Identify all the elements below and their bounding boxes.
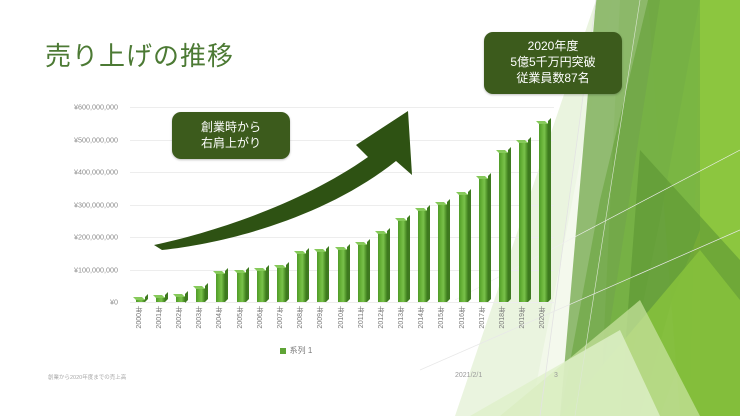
x-axis-tick-label: 2009年 <box>316 306 326 329</box>
x-axis-tick-label: 2001年 <box>155 306 165 329</box>
chart-bar <box>338 249 347 302</box>
y-axis-tick-label: ¥100,000,000 <box>8 265 118 274</box>
chart-bar <box>499 152 508 302</box>
footer-note: 創業から2020年度までの売上高 <box>48 373 126 381</box>
x-axis-tick-label: 2013年 <box>397 306 407 329</box>
chart-bar <box>277 267 286 302</box>
x-axis-tick-label: 2020年 <box>538 306 548 329</box>
legend-label: 系列 1 <box>290 345 313 356</box>
chart-bar <box>317 251 326 302</box>
callout-right-line-1: 2020年度 <box>488 38 618 54</box>
y-axis-tick-label: ¥500,000,000 <box>8 135 118 144</box>
x-axis-tick-label: 2017年 <box>478 306 488 329</box>
footer-page-number: 3 <box>554 372 558 379</box>
callout-right-line-3: 従業員数87名 <box>488 70 618 86</box>
x-axis-tick-label: 2010年 <box>337 306 347 329</box>
y-axis-tick-label: ¥300,000,000 <box>8 200 118 209</box>
y-axis-tick-label: ¥200,000,000 <box>8 233 118 242</box>
chart-bar <box>216 273 225 302</box>
slide-canvas: 売り上げの推移 ¥0¥100,000,000¥200,000,000¥300,0… <box>0 0 740 416</box>
x-axis-tick-label: 2011年 <box>357 306 367 328</box>
chart-bar <box>196 288 205 302</box>
legend-swatch <box>280 348 286 354</box>
x-axis-tick-label: 2002年 <box>175 306 185 329</box>
chart-gridline <box>130 302 554 303</box>
x-axis-tick-label: 2015年 <box>437 306 447 329</box>
y-axis-tick-label: ¥0 <box>8 298 118 307</box>
x-axis-tick-label: 2006年 <box>256 306 266 329</box>
chart-bar <box>257 270 266 302</box>
x-axis-tick-label: 2008年 <box>296 306 306 329</box>
chart-legend: 系列 1 <box>36 345 556 356</box>
x-axis-tick-label: 2004年 <box>215 306 225 329</box>
chart-bar <box>156 297 165 302</box>
callout-right-line-2: 5億5千万円突破 <box>488 54 618 70</box>
footer-date: 2021/2/1 <box>455 372 482 379</box>
x-axis-tick-label: 2007年 <box>276 306 286 329</box>
chart-bar <box>519 142 528 302</box>
page-title: 売り上げの推移 <box>45 36 234 73</box>
x-axis-tick-label: 2012年 <box>377 306 387 329</box>
callout-left: 創業時から 右肩上がり <box>172 112 290 159</box>
callout-right: 2020年度 5億5千万円突破 従業員数87名 <box>484 32 622 94</box>
x-axis-tick-label: 2005年 <box>236 306 246 329</box>
chart-bar <box>176 296 185 303</box>
x-axis-tick-label: 2014年 <box>417 306 427 329</box>
chart-bar <box>539 123 548 302</box>
chart-bar <box>136 299 145 302</box>
chart-bar <box>297 253 306 302</box>
x-axis-tick-label: 2000年 <box>135 306 145 329</box>
x-axis-tick-label: 2019年 <box>518 306 528 329</box>
x-axis-tick-label: 2016年 <box>458 306 468 329</box>
y-axis-tick-label: ¥400,000,000 <box>8 168 118 177</box>
x-axis-tick-label: 2003年 <box>195 306 205 329</box>
x-axis-tick-label: 2018年 <box>498 306 508 329</box>
y-axis-tick-label: ¥600,000,000 <box>8 103 118 112</box>
chart-bar <box>237 272 246 302</box>
chart-bar <box>358 244 367 302</box>
callout-left-line-1: 創業時から <box>176 119 286 135</box>
callout-left-line-2: 右肩上がり <box>176 135 286 151</box>
